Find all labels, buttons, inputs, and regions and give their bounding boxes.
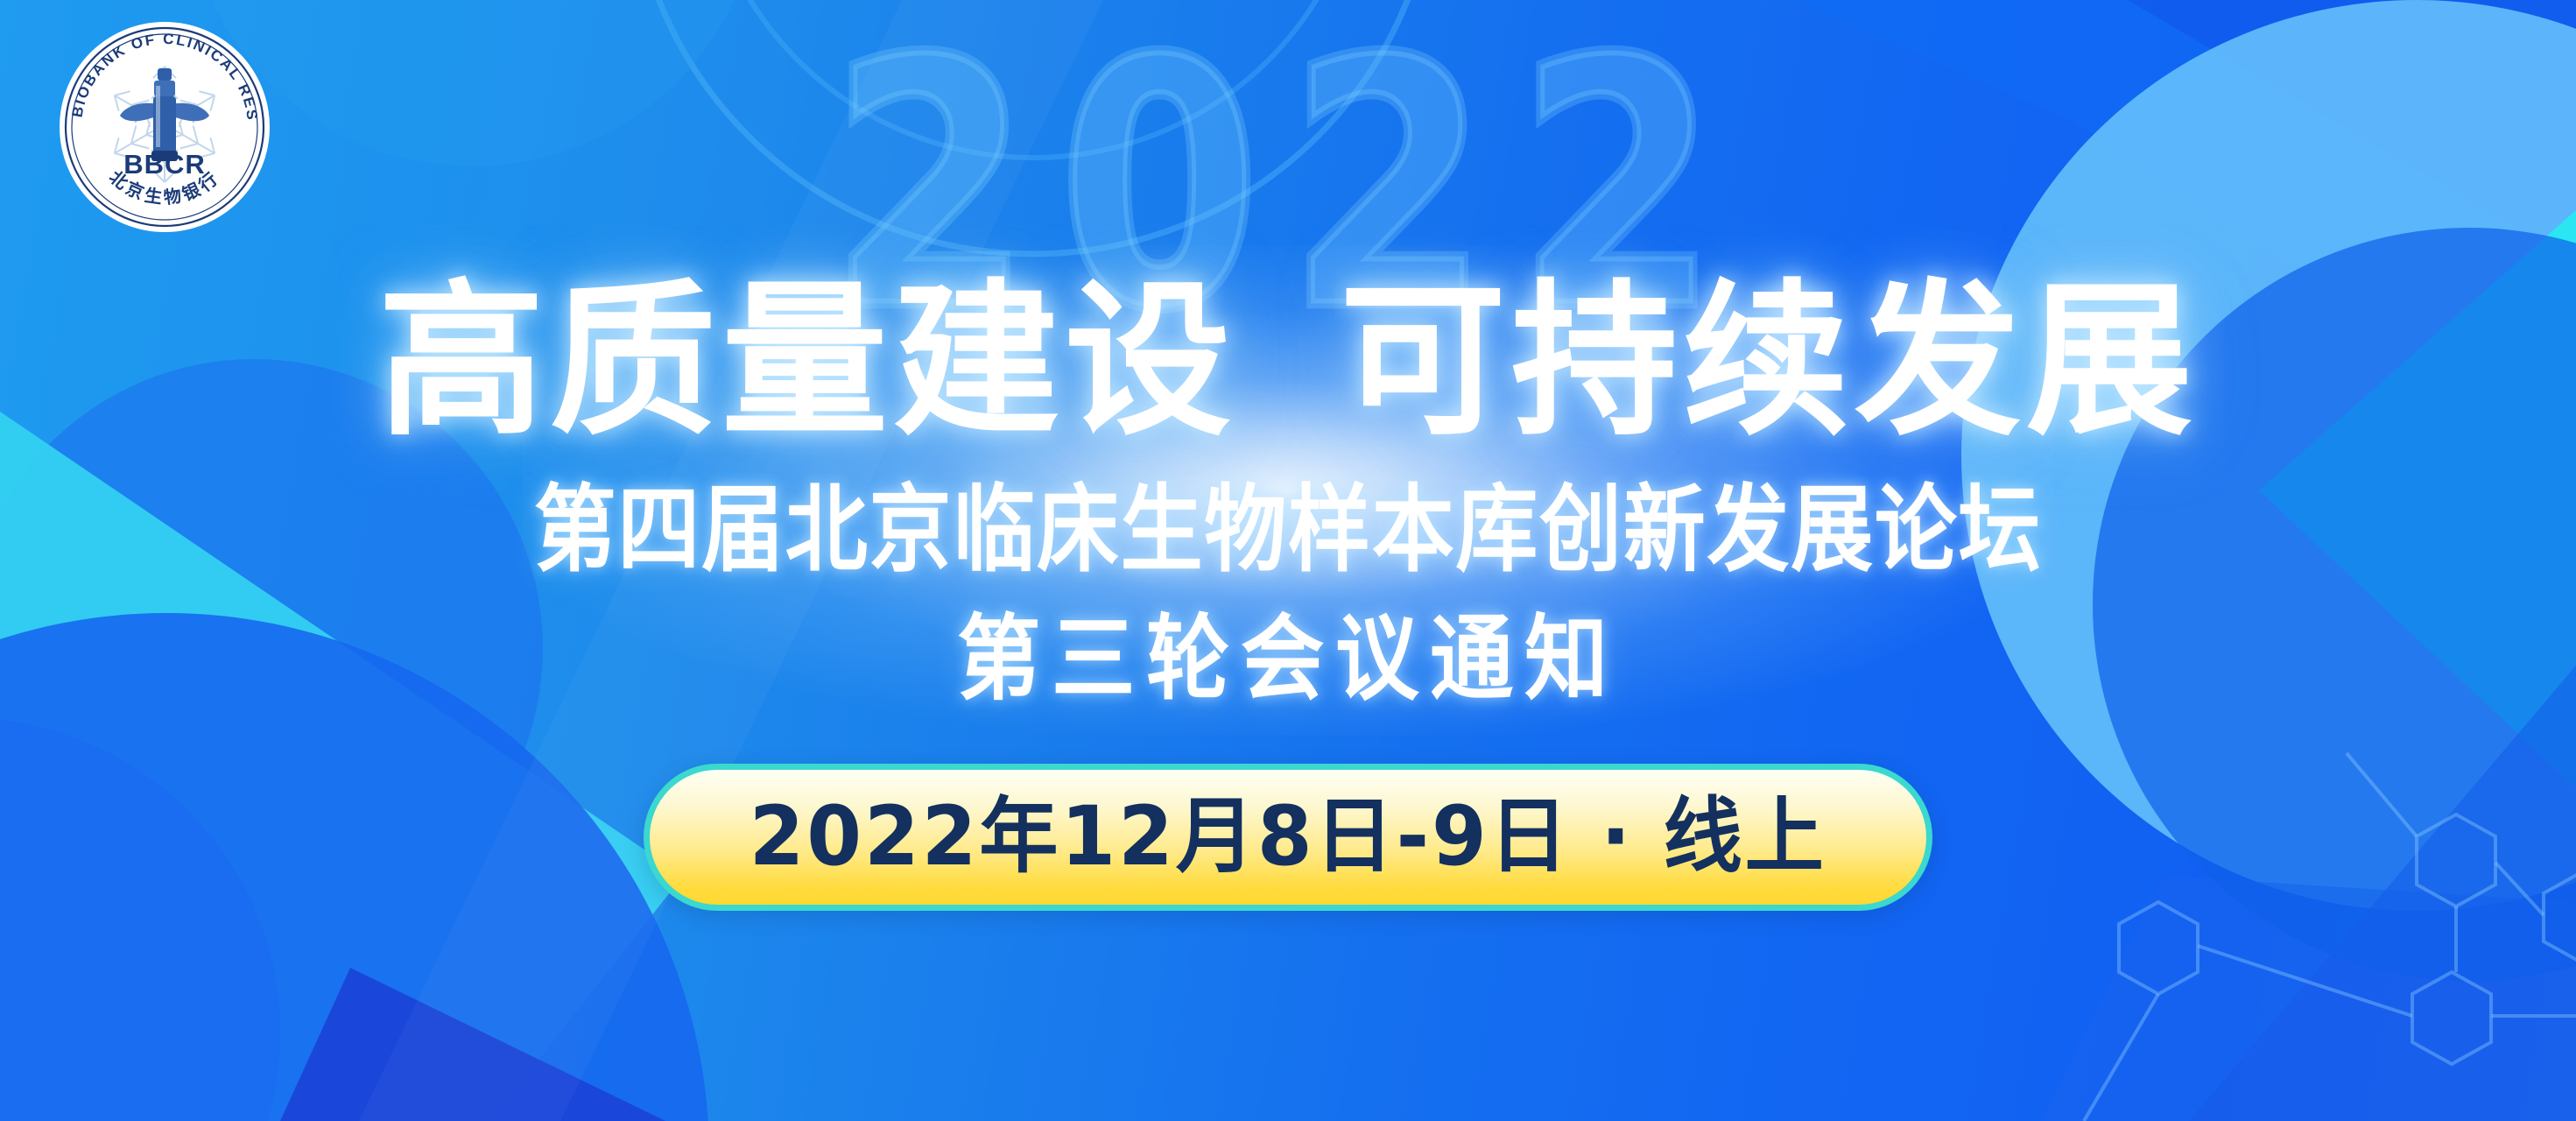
conference-banner: 2022	[0, 0, 2576, 1121]
headline: 高质量建设 可持续发展	[378, 278, 2198, 445]
date-venue-pill: 2022年12月8日-9日 · 线上	[644, 764, 1932, 911]
headline-part-1: 高质量建设	[378, 278, 1236, 445]
subtitle-forum-name: 第四届北京临床生物样本库创新发展论坛	[534, 483, 2043, 578]
subtitle-notice-round: 第三轮会议通知	[957, 613, 1619, 706]
date-venue-text: 2022年12月8日-9日 · 线上	[750, 796, 1826, 878]
headline-part-2: 可持续发展	[1340, 278, 2198, 445]
banner-content: 高质量建设 可持续发展 第四届北京临床生物样本库创新发展论坛 第三轮会议通知 2…	[0, 0, 2576, 1121]
